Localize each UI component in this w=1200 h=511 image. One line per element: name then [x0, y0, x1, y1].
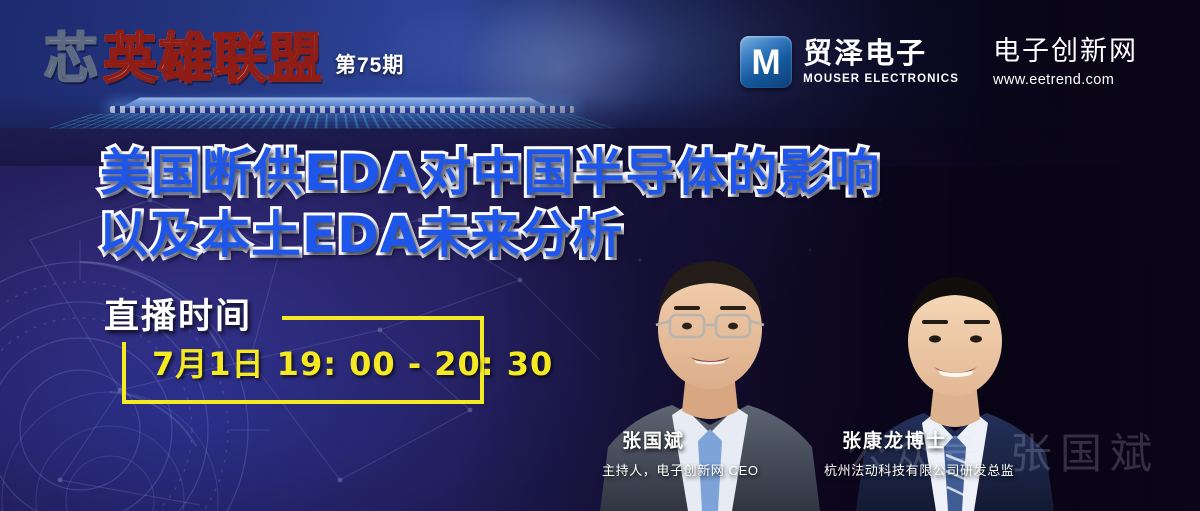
mouser-wordmark: 贸泽电子 MOUSER ELECTRONICS [803, 39, 959, 86]
speaker-card-1: 张国斌 主持人，电子创新网 CEO [590, 211, 830, 511]
live-time-label: 直播时间 [104, 296, 252, 338]
eetrend-url: www.eetrend.com [993, 72, 1138, 88]
mouser-name-cn: 贸泽电子 [803, 39, 959, 71]
speaker-2-role: 杭州法动科技有限公司研发总监 [824, 460, 1014, 479]
speaker-2-name: 张康龙博士 [842, 426, 947, 453]
sponsor-brands: M 贸泽电子 MOUSER ELECTRONICS 电子创新网 www.eetr… [740, 36, 1138, 88]
episode-number: 第75期 [335, 49, 404, 79]
eetrend-logo: 电子创新网 www.eetrend.com [993, 36, 1138, 88]
program-logo: 芯 英雄联盟 第75期 [44, 32, 404, 86]
speaker-card-2: 张康龙博士 杭州法动科技有限公司研发总监 [850, 231, 1060, 511]
schedule-frame-top [282, 316, 484, 320]
schedule-frame-bottom [122, 400, 484, 404]
live-time-value: 7月1日 19: 00 - 20: 30 [152, 344, 553, 384]
speaker-1-name: 张国斌 [622, 426, 685, 453]
eetrend-name-cn: 电子创新网 [993, 36, 1138, 67]
live-schedule-block: 直播时间 7月1日 19: 00 - 20: 30 [104, 296, 504, 408]
title-line-1: 美国断供EDA对中国半导体的影响 [100, 142, 880, 204]
speaker-1-role: 主持人，电子创新网 CEO [602, 460, 759, 479]
program-logo-title: 英雄联盟 [103, 32, 323, 86]
mouser-logo: M 贸泽电子 MOUSER ELECTRONICS [740, 36, 959, 88]
webinar-promo-banner: 芯 英雄联盟 第75期 M 贸泽电子 MOUSER ELECTRONICS 电子… [0, 0, 1200, 511]
mouser-m-icon: M [740, 36, 792, 88]
mouser-name-en: MOUSER ELECTRONICS [803, 73, 959, 85]
schedule-frame-left [122, 342, 126, 404]
program-logo-chip-char: 芯 [44, 32, 103, 86]
